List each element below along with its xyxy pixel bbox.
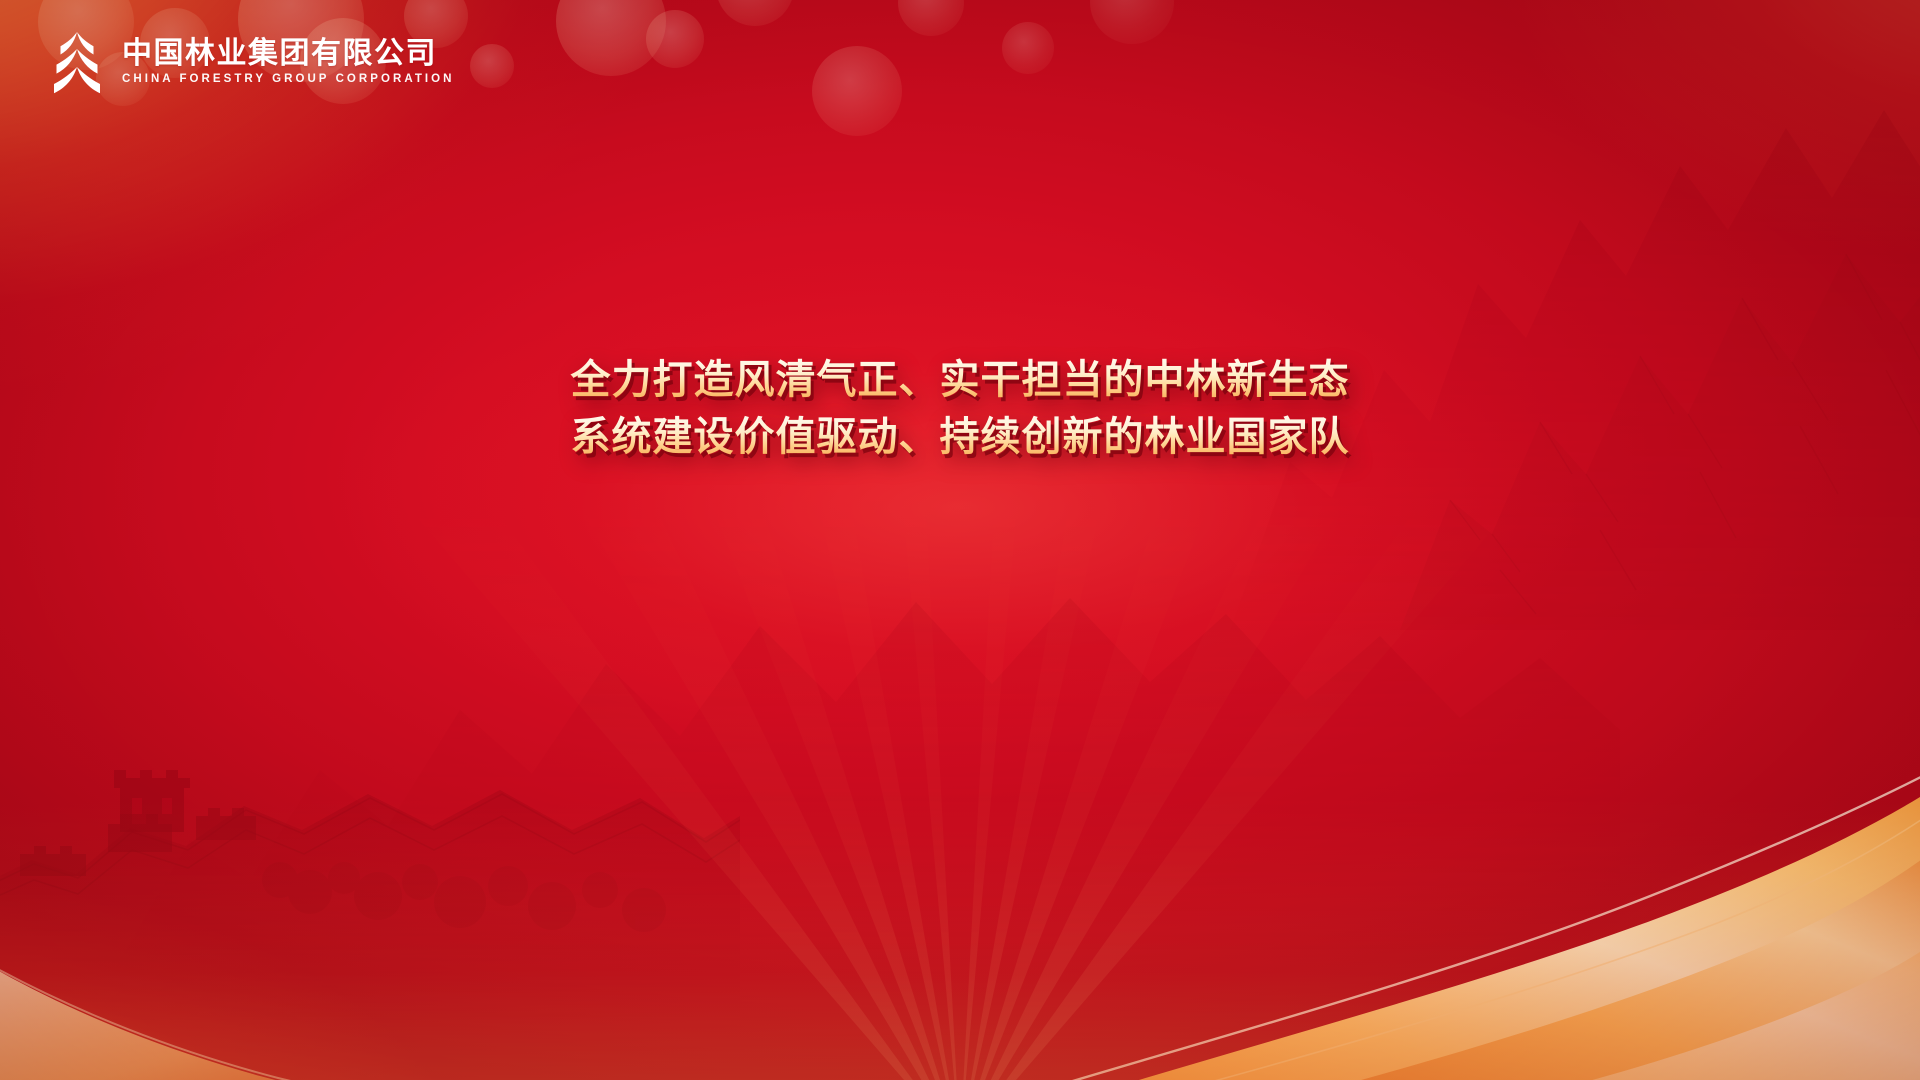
gold-ribbon-bottom-right: [900, 774, 1920, 1080]
banner-canvas: 中国林业集团有限公司 CHINA FORESTRY GROUP CORPORAT…: [0, 0, 1920, 1080]
background-center-burst: [0, 0, 1920, 1080]
background-glow-top-left: [0, 0, 1920, 1080]
great-wall-watermark: [0, 690, 740, 1020]
headline-block: 全力打造风清气正、实干担当的中林新生态 系统建设价值驱动、持续创新的林业国家队: [0, 352, 1920, 466]
headline-line-1: 全力打造风清气正、实干担当的中林新生态: [40, 352, 1880, 409]
bokeh-circle: [812, 46, 902, 136]
mountain-chevron-icon: [46, 30, 108, 94]
bokeh-circle: [470, 44, 514, 88]
mountain-watermark-right: [980, 70, 1920, 630]
bokeh-circle: [1002, 22, 1054, 74]
bokeh-circle: [898, 0, 964, 36]
bokeh-circle: [646, 10, 704, 68]
bokeh-circle: [556, 0, 666, 76]
company-logo[interactable]: 中国林业集团有限公司 CHINA FORESTRY GROUP CORPORAT…: [46, 30, 455, 94]
background-base-gradient: [0, 0, 1920, 1080]
bottom-warm-wash: [0, 0, 1920, 1080]
headline-line-2: 系统建设价值驱动、持续创新的林业国家队: [40, 409, 1880, 466]
background-vignette: [0, 0, 1920, 1080]
logo-company-name-cn: 中国林业集团有限公司: [122, 38, 455, 70]
logo-wordmark: 中国林业集团有限公司 CHINA FORESTRY GROUP CORPORAT…: [122, 38, 455, 85]
bokeh-circle: [1090, 0, 1174, 44]
bokeh-circle-field: [0, 0, 1920, 1080]
bokeh-circle: [716, 0, 794, 26]
mountain-watermark-center: [120, 540, 1620, 960]
background-glow-bottom-left: [0, 0, 1920, 1080]
gold-ribbon-bottom-left: [0, 906, 520, 1080]
logo-company-name-en: CHINA FORESTRY GROUP CORPORATION: [122, 73, 455, 86]
background-glow-top-right: [0, 0, 1920, 1080]
background-glow-bottom-right: [0, 0, 1920, 1080]
light-rays: [0, 475, 1920, 1080]
